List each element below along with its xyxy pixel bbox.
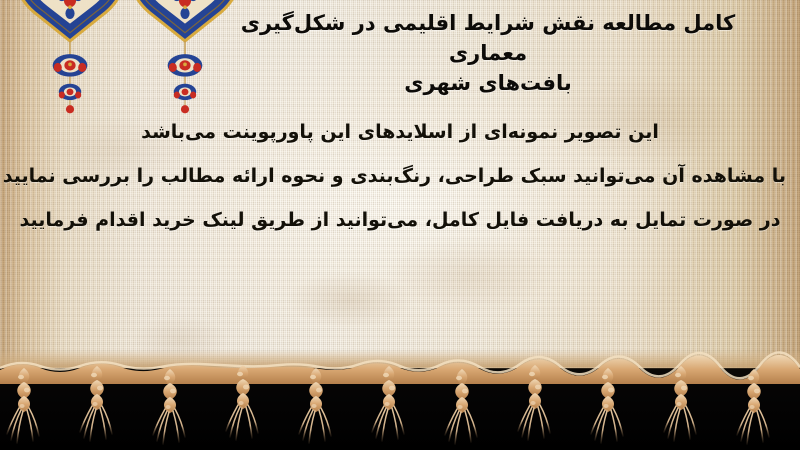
slide-body-text: این تصویر نمونه‌ای از اسلایدهای این پاور… <box>14 110 786 242</box>
ornament-pendant-left <box>17 0 123 113</box>
presentation-slide: کامل مطالعه نقش شرایط اقلیمی در شکل‌گیری… <box>0 0 800 450</box>
carpet-fringe-tassels <box>0 350 800 450</box>
slide-body-line-2: با مشاهده آن می‌توانید سبک طراحی، رنگ‌بن… <box>14 154 786 198</box>
slide-title: کامل مطالعه نقش شرایط اقلیمی در شکل‌گیری… <box>200 8 776 98</box>
slide-body-line-1: این تصویر نمونه‌ای از اسلایدهای این پاور… <box>14 110 786 154</box>
slide-body-line-3: در صورت تمایل به دریافت فایل کامل، می‌تو… <box>14 198 786 242</box>
slide-title-line-2: بافت‌های شهری <box>404 71 572 95</box>
slide-title-line-1: کامل مطالعه نقش شرایط اقلیمی در شکل‌گیری… <box>241 11 735 65</box>
